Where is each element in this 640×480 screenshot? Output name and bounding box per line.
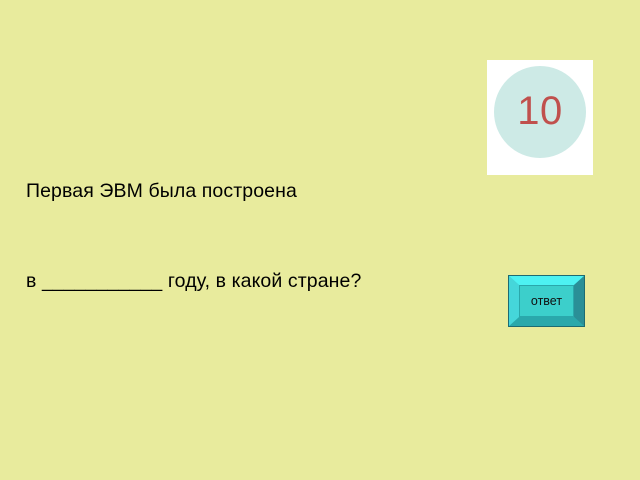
question-line-2: в ___________ году, в какой стране? [26, 266, 466, 296]
quiz-slide: Первая ЭВМ была построена в ___________ … [0, 0, 640, 480]
button-bevel-bottom-icon [509, 317, 584, 326]
answer-button-label: ответ [531, 295, 562, 308]
button-bevel-right-icon [574, 276, 584, 326]
points-value: 10 [517, 91, 563, 131]
button-bevel-top-icon [509, 276, 584, 285]
answer-button-face[interactable]: ответ [519, 285, 574, 317]
points-badge: 10 [487, 60, 593, 175]
question-text: Первая ЭВМ была построена в ___________ … [26, 116, 466, 356]
question-line-1: Первая ЭВМ была построена [26, 176, 466, 206]
answer-button[interactable]: ответ [508, 275, 585, 327]
button-bevel-left-icon [509, 276, 519, 326]
points-circle: 10 [494, 66, 586, 158]
